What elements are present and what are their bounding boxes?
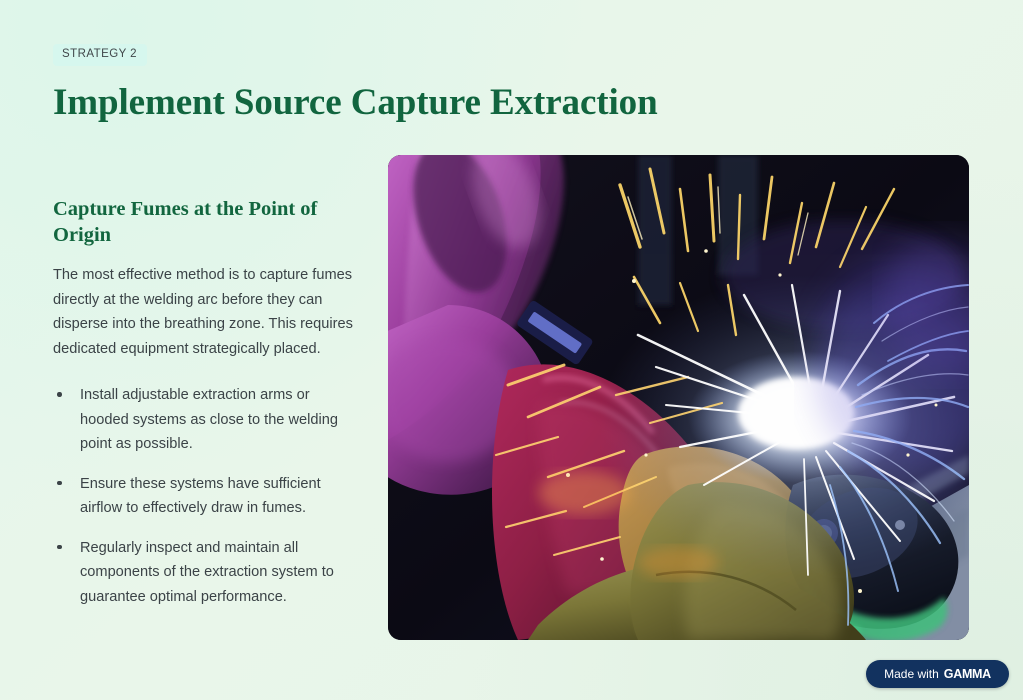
bullet-dot-icon: [57, 481, 62, 486]
page-title: Implement Source Capture Extraction: [53, 82, 753, 123]
list-item: Install adjustable extraction arms or ho…: [53, 383, 353, 457]
welding-illustration: [388, 155, 969, 640]
list-item-text: Ensure these systems have sufficient air…: [80, 476, 321, 517]
bullet-list: Install adjustable extraction arms or ho…: [53, 383, 353, 609]
list-item-text: Regularly inspect and maintain all compo…: [80, 540, 334, 605]
gamma-logo: GAMMA: [944, 668, 991, 681]
list-item: Regularly inspect and maintain all compo…: [53, 536, 353, 610]
slide-header: STRATEGY 2 Implement Source Capture Extr…: [53, 44, 753, 123]
left-content-column: Capture Fumes at the Point of Origin The…: [53, 197, 353, 609]
made-with-gamma-badge[interactable]: Made with GAMMA: [866, 660, 1009, 688]
slide: STRATEGY 2 Implement Source Capture Extr…: [0, 0, 1023, 700]
bullet-dot-icon: [57, 392, 62, 397]
section-subheading: Capture Fumes at the Point of Origin: [53, 197, 353, 248]
list-item-text: Install adjustable extraction arms or ho…: [80, 387, 338, 452]
list-item: Ensure these systems have sufficient air…: [53, 472, 353, 521]
strategy-badge: STRATEGY 2: [53, 44, 147, 66]
body-paragraph: The most effective method is to capture …: [53, 263, 353, 361]
welding-photo: [388, 155, 969, 640]
bullet-dot-icon: [57, 545, 62, 550]
made-with-label: Made with: [884, 668, 939, 680]
